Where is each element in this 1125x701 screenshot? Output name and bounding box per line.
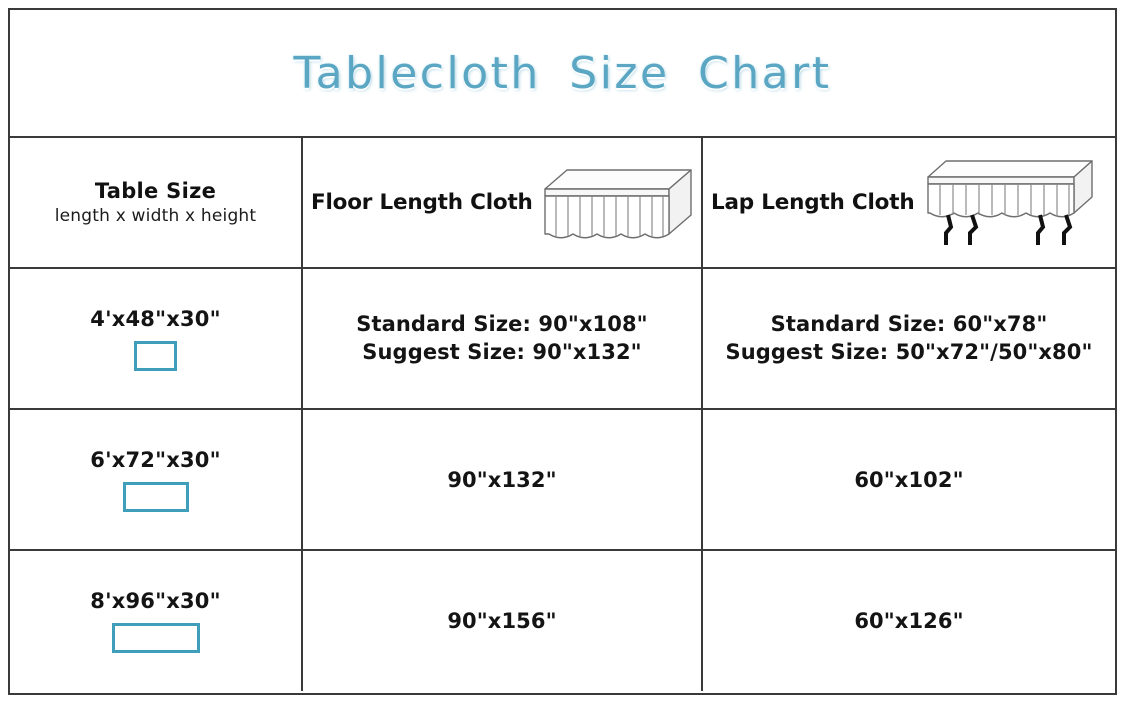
lap-size-value: 60"x102"	[854, 468, 963, 492]
cell-floor-length-size: 90"x132"	[302, 409, 702, 550]
table-header-row: Table Size length x width x height Floor…	[10, 138, 1115, 268]
cell-table-size: 4'x48"x30"	[10, 268, 302, 409]
cell-lap-length-size: 60"x126"	[702, 550, 1115, 691]
tablecloth-size-chart-page: Tablecloth Size Chart Table Size length …	[0, 0, 1125, 701]
floor-standard-size: Standard Size: 90"x108"	[303, 311, 701, 339]
table-size-with-swatch: 4'x48"x30"	[10, 307, 301, 371]
chart-title-band: Tablecloth Size Chart	[10, 10, 1115, 138]
chart-outer-frame: Tablecloth Size Chart Table Size length …	[8, 8, 1117, 695]
cell-lap-length-size: 60"x102"	[702, 409, 1115, 550]
table-size-with-swatch: 6'x72"x30"	[10, 448, 301, 512]
lap-size-value: 60"x126"	[854, 609, 963, 633]
header-cell-lap-length: Lap Length Cloth	[702, 138, 1115, 268]
lap-length-table-illustration-icon	[920, 153, 1100, 253]
table-size-value: 6'x72"x30"	[90, 448, 220, 472]
table-size-with-swatch: 8'x96"x30"	[10, 589, 301, 653]
floor-size-value: 90"x156"	[447, 609, 556, 633]
floor-length-label: Floor Length Cloth	[311, 190, 533, 215]
table-size-heading-sub: length x width x height	[10, 206, 301, 227]
table-shape-swatch	[134, 341, 177, 371]
table-row: 6'x72"x30" 90"x132" 60"x102"	[10, 409, 1115, 550]
lap-length-label: Lap Length Cloth	[711, 190, 914, 215]
table-size-value: 4'x48"x30"	[90, 307, 220, 331]
table-row: 4'x48"x30" Standard Size: 90"x108" Sugge…	[10, 268, 1115, 409]
lap-length-header: Lap Length Cloth	[703, 138, 1115, 267]
header-cell-floor-length: Floor Length Cloth	[302, 138, 702, 268]
page-title: Tablecloth Size Chart	[294, 48, 832, 99]
lap-standard-size: Standard Size: 60"x78"	[703, 311, 1115, 339]
table-size-heading: Table Size length x width x height	[10, 178, 301, 228]
table-row: 8'x96"x30" 90"x156" 60"x126"	[10, 550, 1115, 691]
cell-floor-length-size: Standard Size: 90"x108" Suggest Size: 90…	[302, 268, 702, 409]
cell-table-size: 6'x72"x30"	[10, 409, 302, 550]
cell-table-size: 8'x96"x30"	[10, 550, 302, 691]
table-size-value: 8'x96"x30"	[90, 589, 220, 613]
table-shape-swatch	[112, 623, 200, 653]
lap-suggest-size: Suggest Size: 50"x72"/50"x80"	[703, 339, 1115, 367]
cell-floor-length-size: 90"x156"	[302, 550, 702, 691]
floor-size-value: 90"x132"	[447, 468, 556, 492]
header-cell-table-size: Table Size length x width x height	[10, 138, 302, 268]
cell-lap-length-size: Standard Size: 60"x78" Suggest Size: 50"…	[702, 268, 1115, 409]
size-table: Table Size length x width x height Floor…	[10, 138, 1115, 691]
table-size-heading-main: Table Size	[10, 178, 301, 204]
table-shape-swatch	[123, 482, 189, 512]
floor-suggest-size: Suggest Size: 90"x132"	[303, 339, 701, 367]
floor-length-table-illustration-icon	[539, 163, 694, 243]
floor-length-header: Floor Length Cloth	[303, 138, 701, 267]
